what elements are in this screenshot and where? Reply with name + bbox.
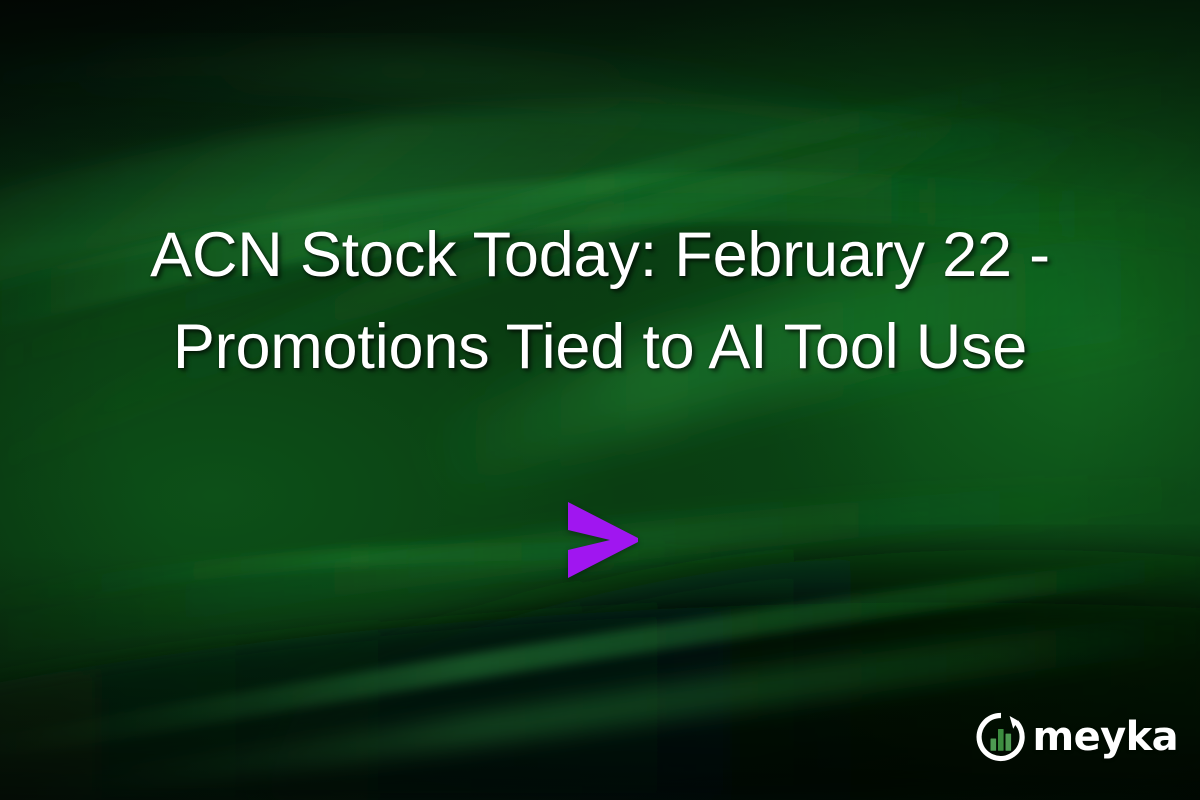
meyka-logo[interactable]: meyka	[976, 712, 1178, 762]
page-title: ACN Stock Today: February 22 - Promotion…	[60, 210, 1140, 394]
promo-banner: ACN Stock Today: February 22 - Promotion…	[0, 0, 1200, 800]
chevron-right-icon	[560, 500, 640, 580]
divider	[0, 500, 1200, 580]
background-vignette	[0, 0, 1200, 800]
meyka-bar-chart-ring-icon	[976, 712, 1026, 762]
logo-wordmark: meyka	[1033, 717, 1178, 757]
